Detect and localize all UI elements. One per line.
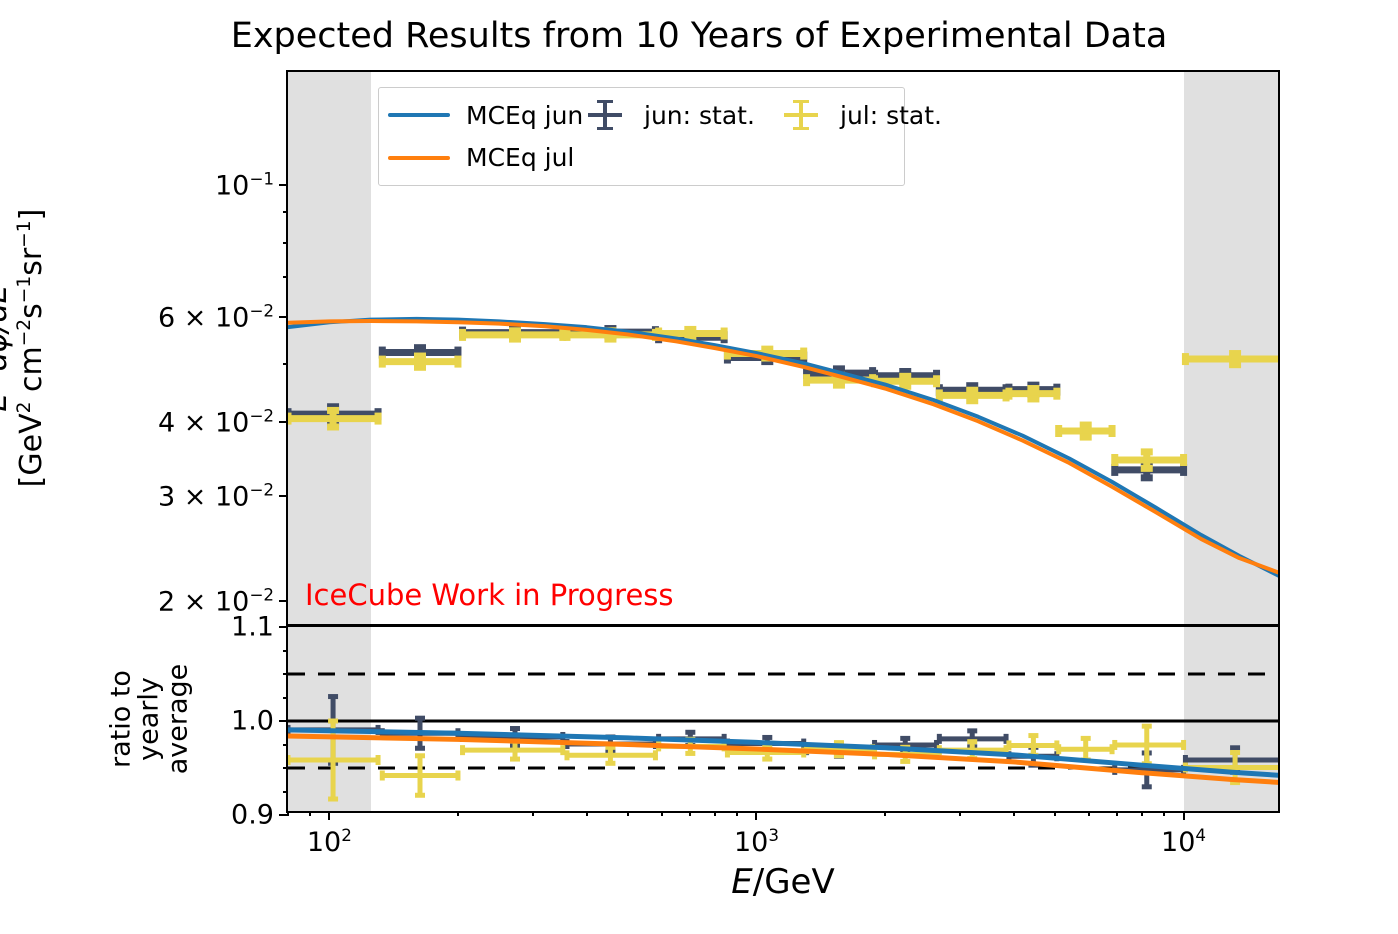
x-tick [457,811,459,816]
x-tick [287,811,289,816]
flux-y-tick [279,316,288,318]
x-axis-label: E/GeV [731,862,834,902]
flux-y-tick [283,363,288,365]
work-in-progress-annotation: IceCube Work in Progress [305,578,674,612]
x-tick [328,811,330,820]
ratio-series-layer [288,627,1278,811]
x-tick [1163,811,1165,816]
ratio-y-tick [279,626,288,628]
x-tick-label: 104 [1161,825,1206,858]
ratio-y-axis-label: ratio toyearlyaverage [107,664,192,775]
legend-swatch-jun-stat [588,100,644,130]
x-tick [736,811,738,816]
ratio-y-tick-label: 1.1 [231,612,274,643]
x-tick [1054,811,1056,816]
ratio-y-tick-label: 0.9 [231,800,274,831]
legend: MCEq jun jun: stat. jul: stat. MCEq jul [378,87,905,186]
x-tick [1088,811,1090,816]
x-tick [1116,811,1118,816]
legend-label-jun-stat: jun: stat. [644,101,784,130]
flux-y-tick-label: 6 × 10−2 [158,301,274,334]
x-tick [755,811,757,820]
ratio-y-tick [283,697,288,699]
ratio-panel: 0.91.01.1 102103104 [286,625,1280,813]
ratio-y-tick [283,767,288,769]
x-tick [689,811,691,816]
flux-y-tick [279,421,288,423]
ratio-y-tick [279,720,288,722]
x-tick [959,811,961,816]
ratio-y-tick-label: 1.0 [231,706,274,737]
ratio-plot-area [288,627,1278,811]
ratio-y-tick [283,744,288,746]
legend-label-mceq-jun: MCEq jun [466,101,588,130]
x-tick [1013,811,1015,816]
flux-y-tick [283,276,288,278]
x-tick [586,811,588,816]
x-tick [1141,811,1143,816]
x-tick [714,811,716,816]
figure-root: Expected Results from 10 Years of Experi… [0,0,1398,934]
x-tick [884,811,886,816]
legend-swatch-mceq-jun [388,113,466,117]
x-tick [1183,811,1185,820]
flux-y-tick [283,242,288,244]
flux-y-tick-label: 3 × 10−2 [158,480,274,513]
flux-y-tick [279,495,288,497]
x-tick [309,811,311,816]
flux-y-tick [283,211,288,213]
flux-y-tick [279,184,288,186]
ratio-y-tick [283,791,288,793]
flux-y-axis-label: E3 dϕ/dE [GeV2 cm−2s−1sr−1] [0,209,49,488]
flux-y-tick-label: 10−1 [215,169,274,202]
ratio-y-tick [283,673,288,675]
x-tick-label: 103 [734,825,779,858]
legend-swatch-mceq-jul [388,156,466,160]
legend-label-mceq-jul: MCEq jul [466,143,588,172]
x-tick [532,811,534,816]
flux-y-tick-label: 4 × 10−2 [158,405,274,438]
page-title: Expected Results from 10 Years of Experi… [0,16,1398,56]
x-tick [661,811,663,816]
ratio-y-tick [283,650,288,652]
legend-swatch-jul-stat [784,100,840,130]
x-tick-label: 102 [307,825,352,858]
flux-y-tick [279,600,288,602]
x-tick [627,811,629,816]
legend-label-jul-stat: jul: stat. [840,101,942,130]
